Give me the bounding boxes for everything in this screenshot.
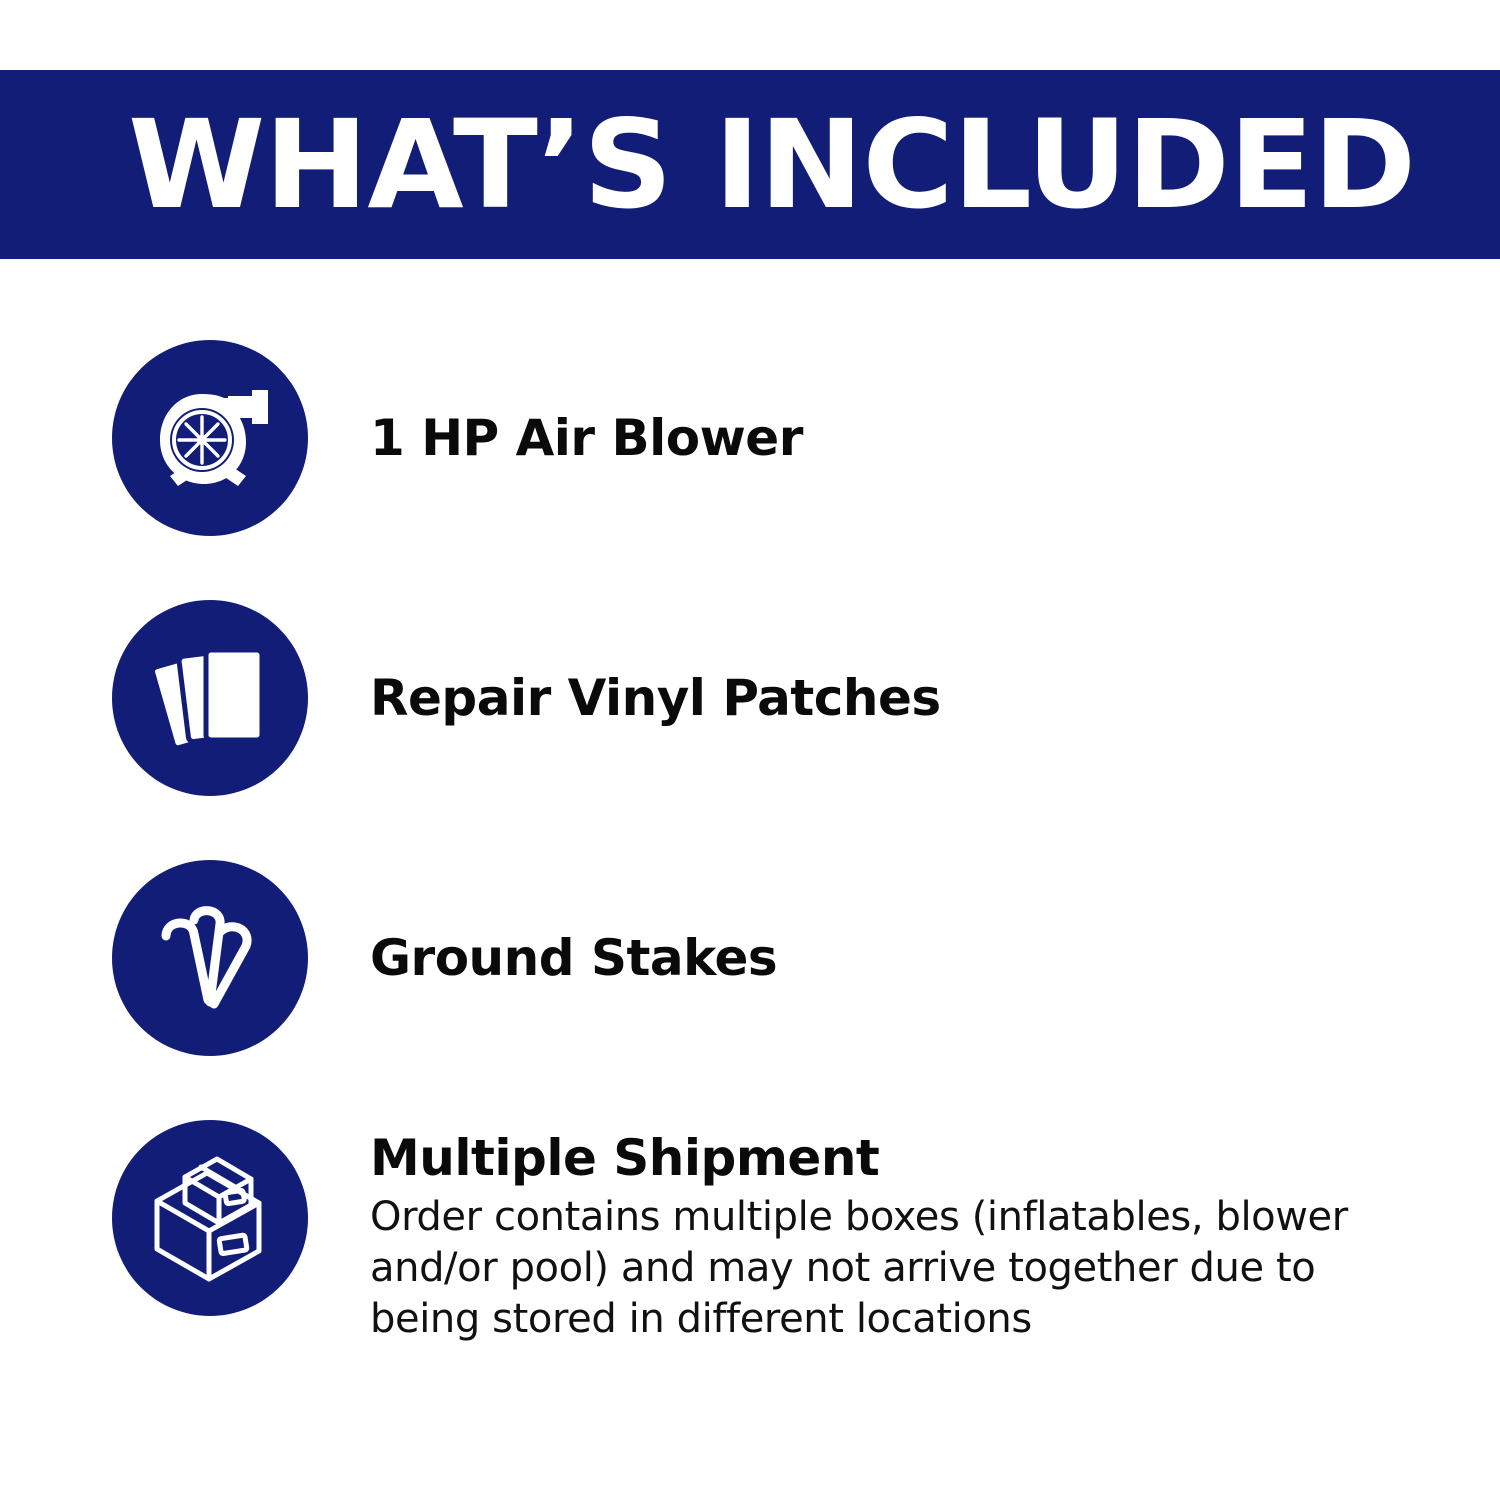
item-title: 1 HP Air Blower bbox=[370, 410, 1500, 466]
whats-included-infographic: WHAT’S INCLUDED bbox=[0, 0, 1500, 1500]
ground-stakes-icon bbox=[140, 888, 280, 1028]
item-title: Multiple Shipment bbox=[370, 1130, 1500, 1186]
item-text-block: 1 HP Air Blower bbox=[308, 410, 1500, 466]
item-description: Order contains multiple boxes (inflatabl… bbox=[370, 1192, 1395, 1346]
page-title: WHAT’S INCLUDED bbox=[128, 104, 1415, 226]
list-item-repair-vinyl-patches: Repair Vinyl Patches bbox=[0, 600, 1500, 796]
air-blower-icon bbox=[140, 368, 280, 508]
header-banner: WHAT’S INCLUDED bbox=[0, 70, 1500, 259]
ground-stakes-icon-badge bbox=[112, 860, 308, 1056]
list-item-multiple-shipment: Multiple Shipment Order contains multipl… bbox=[0, 1120, 1500, 1346]
list-item-air-blower: 1 HP Air Blower bbox=[0, 340, 1500, 536]
air-blower-icon-badge bbox=[112, 340, 308, 536]
vinyl-patches-icon-badge bbox=[112, 600, 308, 796]
stacked-boxes-icon-badge bbox=[112, 1120, 308, 1316]
item-text-block: Ground Stakes bbox=[308, 930, 1500, 986]
list-item-ground-stakes: Ground Stakes bbox=[0, 860, 1500, 1056]
vinyl-patches-icon bbox=[140, 628, 280, 768]
included-items-list: 1 HP Air Blower bbox=[0, 340, 1500, 1346]
item-title: Repair Vinyl Patches bbox=[370, 670, 1500, 726]
item-text-block: Multiple Shipment Order contains multipl… bbox=[308, 1130, 1500, 1346]
item-title: Ground Stakes bbox=[370, 930, 1500, 986]
item-text-block: Repair Vinyl Patches bbox=[308, 670, 1500, 726]
stacked-boxes-icon bbox=[139, 1147, 281, 1289]
